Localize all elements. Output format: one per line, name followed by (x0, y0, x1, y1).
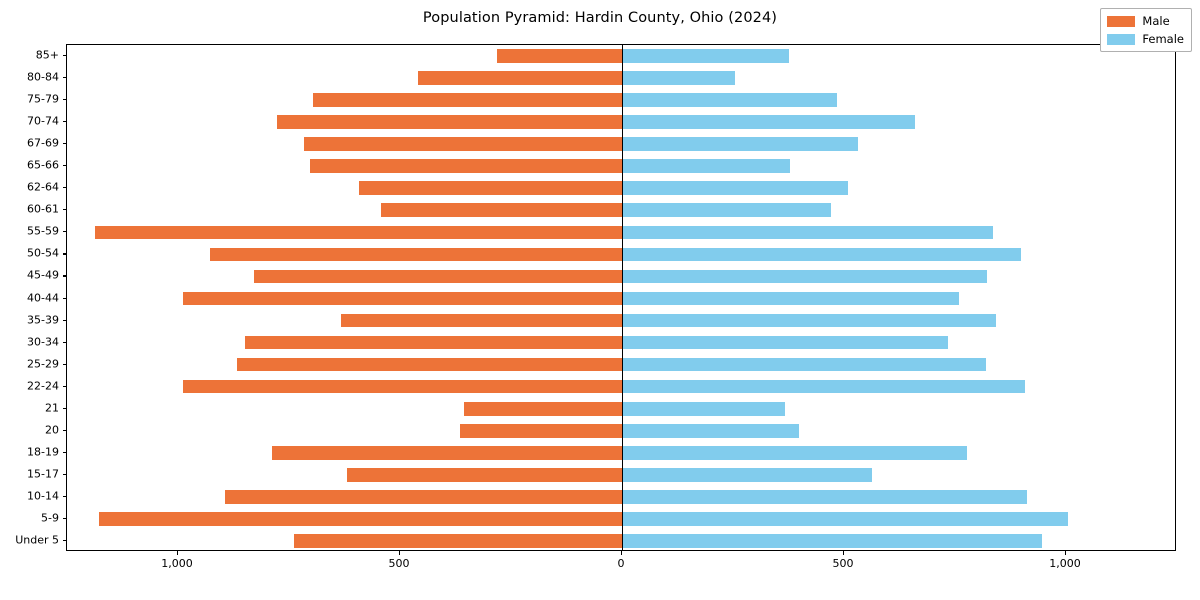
bar-male (95, 226, 622, 240)
bar-male (304, 137, 622, 151)
y-tick-mark (63, 55, 67, 56)
bar-male (237, 358, 622, 372)
chart-legend: Male Female (1100, 8, 1192, 52)
plot-area (66, 44, 1176, 551)
y-tick-mark (63, 452, 67, 453)
bar-male (254, 270, 622, 284)
bar-row (67, 402, 1175, 416)
bar-female (622, 203, 831, 217)
bar-female (622, 248, 1021, 262)
bar-male (277, 115, 622, 129)
bar-row (67, 248, 1175, 262)
bar-female (622, 534, 1042, 548)
y-tick-label: 80-84 (27, 71, 59, 84)
bar-female (622, 424, 799, 438)
bar-female (622, 336, 948, 350)
bar-row (67, 534, 1175, 548)
y-tick-mark (63, 121, 67, 122)
legend-swatch-male (1107, 16, 1135, 27)
bar-female (622, 226, 993, 240)
bar-row (67, 336, 1175, 350)
x-tick-label: 500 (833, 557, 854, 570)
y-tick-mark (63, 364, 67, 365)
y-tick-label: 55-59 (27, 225, 59, 238)
bar-row (67, 270, 1175, 284)
bar-row (67, 49, 1175, 63)
x-tick-mark (843, 551, 844, 555)
bar-row (67, 226, 1175, 240)
bar-row (67, 203, 1175, 217)
bar-row (67, 424, 1175, 438)
bar-female (622, 512, 1068, 526)
bar-male (210, 248, 622, 262)
bar-male (460, 424, 622, 438)
y-tick-mark (63, 275, 67, 276)
y-tick-mark (63, 518, 67, 519)
x-tick-mark (399, 551, 400, 555)
y-tick-mark (63, 320, 67, 321)
y-tick-label: 15-17 (27, 467, 59, 480)
y-tick-label: 60-61 (27, 203, 59, 216)
bar-female (622, 181, 848, 195)
bar-female (622, 468, 872, 482)
y-tick-mark (63, 386, 67, 387)
bar-female (622, 358, 986, 372)
x-tick-label: 0 (618, 557, 625, 570)
bar-female (622, 402, 785, 416)
bar-male (99, 512, 622, 526)
bar-male (359, 181, 622, 195)
y-tick-mark (63, 77, 67, 78)
bar-female (622, 49, 789, 63)
y-tick-mark (63, 165, 67, 166)
y-tick-label: 25-29 (27, 357, 59, 370)
page-title: Population Pyramid: Hardin County, Ohio … (0, 10, 1200, 26)
y-tick-mark (63, 231, 67, 232)
y-tick-mark (63, 496, 67, 497)
bar-female (622, 446, 967, 460)
bar-male (183, 380, 622, 394)
bar-male (464, 402, 622, 416)
bar-male (341, 314, 622, 328)
bar-row (67, 512, 1175, 526)
bar-row (67, 93, 1175, 107)
bar-female (622, 159, 790, 173)
x-tick-label: 500 (389, 557, 410, 570)
y-tick-mark (63, 209, 67, 210)
bar-male (294, 534, 622, 548)
bar-row (67, 292, 1175, 306)
bar-male (313, 93, 622, 107)
bar-male (183, 292, 622, 306)
bar-row (67, 468, 1175, 482)
y-tick-label: 10-14 (27, 489, 59, 502)
y-tick-label: 22-24 (27, 379, 59, 392)
bar-row (67, 159, 1175, 173)
legend-entry-male: Male (1107, 14, 1184, 28)
bar-female (622, 314, 996, 328)
bar-row (67, 380, 1175, 394)
bar-male (497, 49, 622, 63)
y-tick-label: 70-74 (27, 115, 59, 128)
y-tick-label: 5-9 (41, 511, 59, 524)
y-tick-label: 30-34 (27, 335, 59, 348)
y-tick-label: 20 (45, 423, 59, 436)
bar-male (418, 71, 622, 85)
population-pyramid-figure: Population Pyramid: Hardin County, Ohio … (0, 0, 1200, 600)
bar-row (67, 446, 1175, 460)
bar-row (67, 358, 1175, 372)
bar-male (225, 490, 622, 504)
bar-male (347, 468, 622, 482)
y-tick-label: 62-64 (27, 181, 59, 194)
y-tick-label: 45-49 (27, 269, 59, 282)
legend-swatch-female (1107, 34, 1135, 45)
y-tick-mark (63, 430, 67, 431)
y-tick-label: 40-44 (27, 291, 59, 304)
bar-row (67, 314, 1175, 328)
bars-layer (67, 45, 1175, 550)
y-tick-mark (63, 253, 67, 254)
bar-female (622, 115, 915, 129)
y-tick-label: 21 (45, 401, 59, 414)
y-tick-label: 85+ (36, 49, 59, 62)
bar-female (622, 380, 1025, 394)
y-tick-label: 50-54 (27, 247, 59, 260)
x-tick-label: 1,000 (1049, 557, 1081, 570)
bar-female (622, 93, 837, 107)
y-tick-mark (63, 143, 67, 144)
bar-row (67, 137, 1175, 151)
y-tick-mark (63, 99, 67, 100)
y-tick-label: 35-39 (27, 313, 59, 326)
bar-row (67, 71, 1175, 85)
y-tick-mark (63, 342, 67, 343)
legend-label-male: Male (1142, 14, 1169, 28)
x-tick-mark (1065, 551, 1066, 555)
bar-female (622, 292, 959, 306)
y-tick-mark (63, 540, 67, 541)
bar-female (622, 137, 858, 151)
y-tick-mark (63, 298, 67, 299)
bar-row (67, 490, 1175, 504)
y-tick-mark (63, 408, 67, 409)
x-tick-label: 1,000 (161, 557, 193, 570)
legend-entry-female: Female (1107, 32, 1184, 46)
x-tick-mark (177, 551, 178, 555)
bar-female (622, 490, 1027, 504)
y-tick-label: Under 5 (15, 533, 59, 546)
bar-row (67, 115, 1175, 129)
y-tick-mark (63, 187, 67, 188)
y-tick-label: 18-19 (27, 445, 59, 458)
y-tick-label: 67-69 (27, 137, 59, 150)
y-tick-mark (63, 474, 67, 475)
bar-male (310, 159, 622, 173)
bar-row (67, 181, 1175, 195)
bar-male (272, 446, 622, 460)
y-tick-label: 75-79 (27, 93, 59, 106)
legend-label-female: Female (1142, 32, 1184, 46)
bar-female (622, 270, 987, 284)
bar-male (381, 203, 622, 217)
x-tick-mark (621, 551, 622, 555)
bar-male (245, 336, 622, 350)
y-tick-label: 65-66 (27, 159, 59, 172)
zero-axis-line (622, 45, 623, 550)
bar-female (622, 71, 735, 85)
